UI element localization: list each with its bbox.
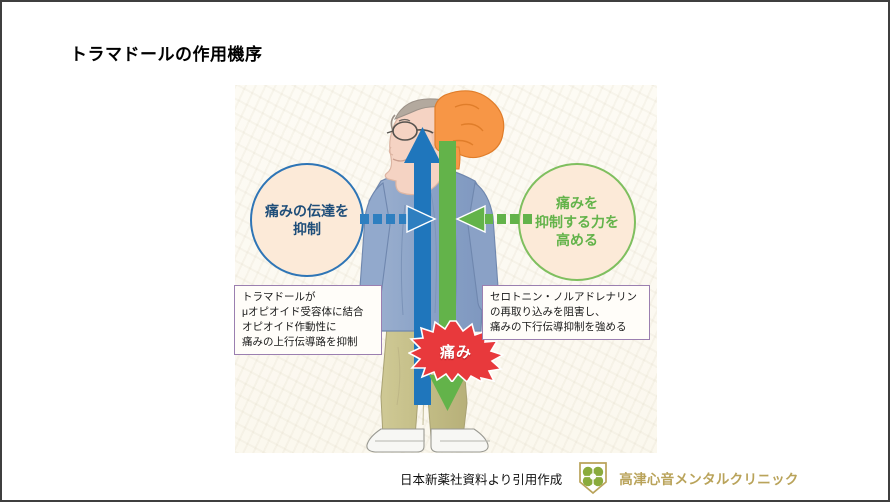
caption-left-line-4: 痛みの上行伝導路を抑制 (242, 335, 375, 350)
caption-right-snri: セロトニン・ノルアドレナリン の再取り込みを阻害し、 痛みの下行伝導抑制を強める (482, 285, 650, 340)
caption-left-mu-opioid: トラマドールが μオピオイド受容体に結合 オピオイド作動性に 痛みの上行伝導路を… (234, 285, 382, 355)
circle-right-line-1: 痛みを (529, 194, 625, 212)
circle-left-line-2: 抑制 (259, 220, 355, 238)
clinic-brand: 高津心音メンタルクリニック (576, 460, 798, 496)
blue-dashed-arrow-right (360, 202, 440, 236)
clinic-name: 高津心音メンタルクリニック (619, 468, 798, 488)
caption-right-line-3: 痛みの下行伝導抑制を強める (490, 320, 643, 335)
clinic-logo-icon (576, 460, 610, 496)
page-title: トラマドールの作用機序 (70, 40, 263, 65)
footer: 日本新薬社資料より引用作成 高津心音メンタルクリニック (400, 460, 799, 496)
caption-left-line-3: オピオイド作動性に (242, 320, 375, 335)
caption-right-line-1: セロトニン・ノルアドレナリン (490, 290, 643, 305)
green-dashed-arrow-left (452, 202, 532, 236)
circle-enhance-inhibition: 痛みを 抑制する力を 高める (518, 163, 636, 281)
caption-left-line-2: μオピオイド受容体に結合 (242, 305, 375, 320)
circle-right-line-2: 抑制する力を (529, 213, 625, 231)
circle-inhibit-transmission: 痛みの伝達を 抑制 (250, 163, 364, 277)
slide-canvas: トラマドールの作用機序 (0, 0, 890, 502)
circle-left-line-1: 痛みの伝達を (259, 202, 355, 220)
source-credit: 日本新薬社資料より引用作成 (400, 469, 562, 488)
circle-right-line-3: 高める (529, 231, 625, 249)
caption-left-line-1: トラマドールが (242, 290, 375, 305)
caption-right-line-2: の再取り込みを阻害し、 (490, 305, 643, 320)
